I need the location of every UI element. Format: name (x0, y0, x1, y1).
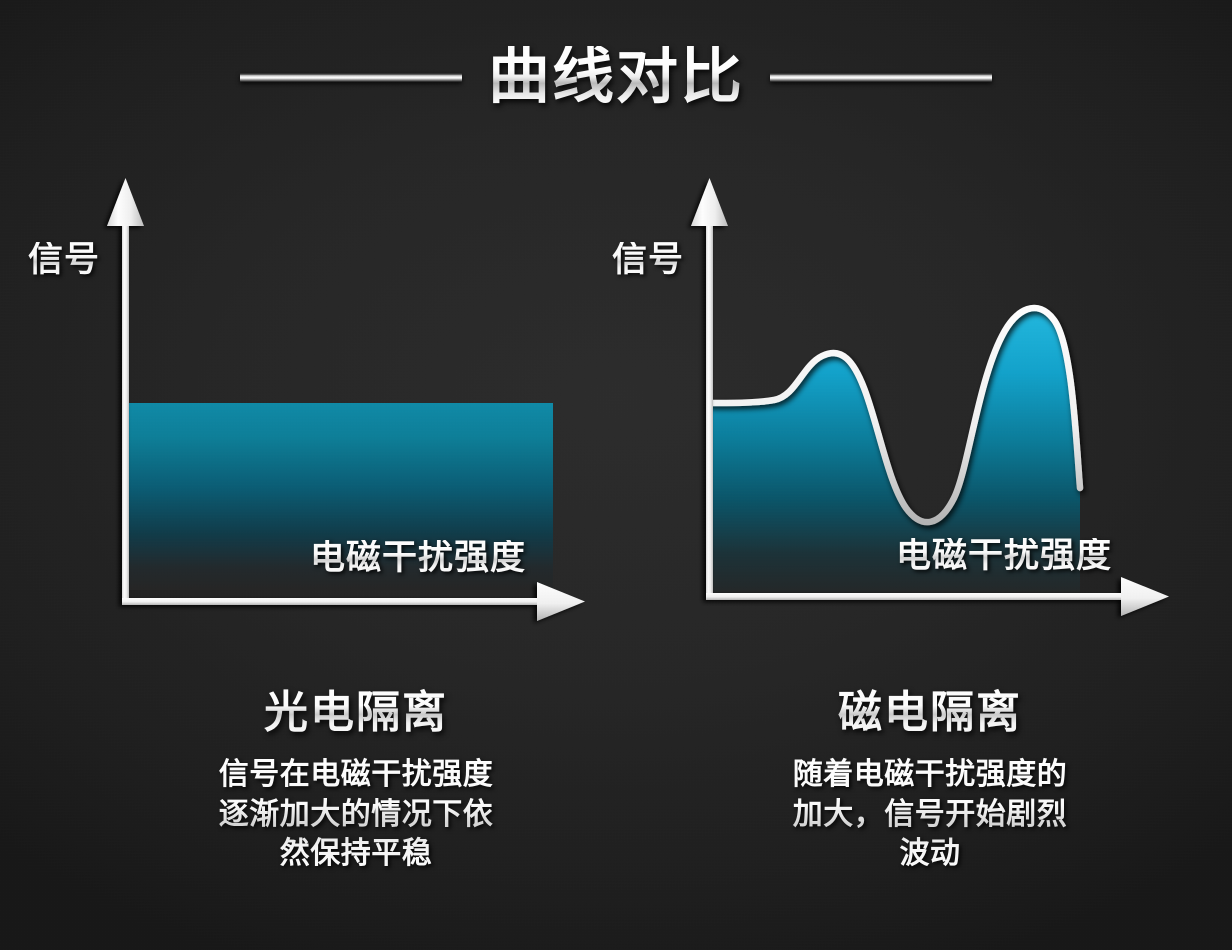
title-decoration-line-right (770, 73, 992, 82)
caption-left-title: 光电隔离 (126, 688, 586, 737)
chart-left-x-axis-label: 电磁干扰强度 (310, 540, 526, 575)
caption-photoelectric-isolation: 光电隔离 信号在电磁干扰强度 逐渐加大的情况下依 然保持平稳 (126, 688, 586, 874)
chart-photoelectric-isolation: 信号 电磁干扰强度 (22, 170, 562, 640)
title-decoration-line-left (240, 73, 462, 82)
caption-magnetoelectric-isolation: 磁电隔离 随着电磁干扰强度的 加大，信号开始剧烈 波动 (700, 688, 1160, 874)
chart-right-y-axis-label: 信号 (612, 242, 684, 277)
chart-magnetoelectric-isolation: 信号 电磁干扰强度 (606, 170, 1146, 640)
poster-canvas: 曲线对比 (0, 0, 1232, 950)
page-title: 曲线对比 (488, 46, 744, 108)
caption-right-title: 磁电隔离 (700, 688, 1160, 737)
caption-left-description: 信号在电磁干扰强度 逐渐加大的情况下依 然保持平稳 (126, 755, 586, 874)
chart-right-x-axis-label: 电磁干扰强度 (896, 538, 1112, 573)
chart-left-y-axis-label: 信号 (28, 242, 100, 277)
title-bar: 曲线对比 (0, 34, 1232, 120)
caption-right-description: 随着电磁干扰强度的 加大，信号开始剧烈 波动 (700, 755, 1160, 874)
